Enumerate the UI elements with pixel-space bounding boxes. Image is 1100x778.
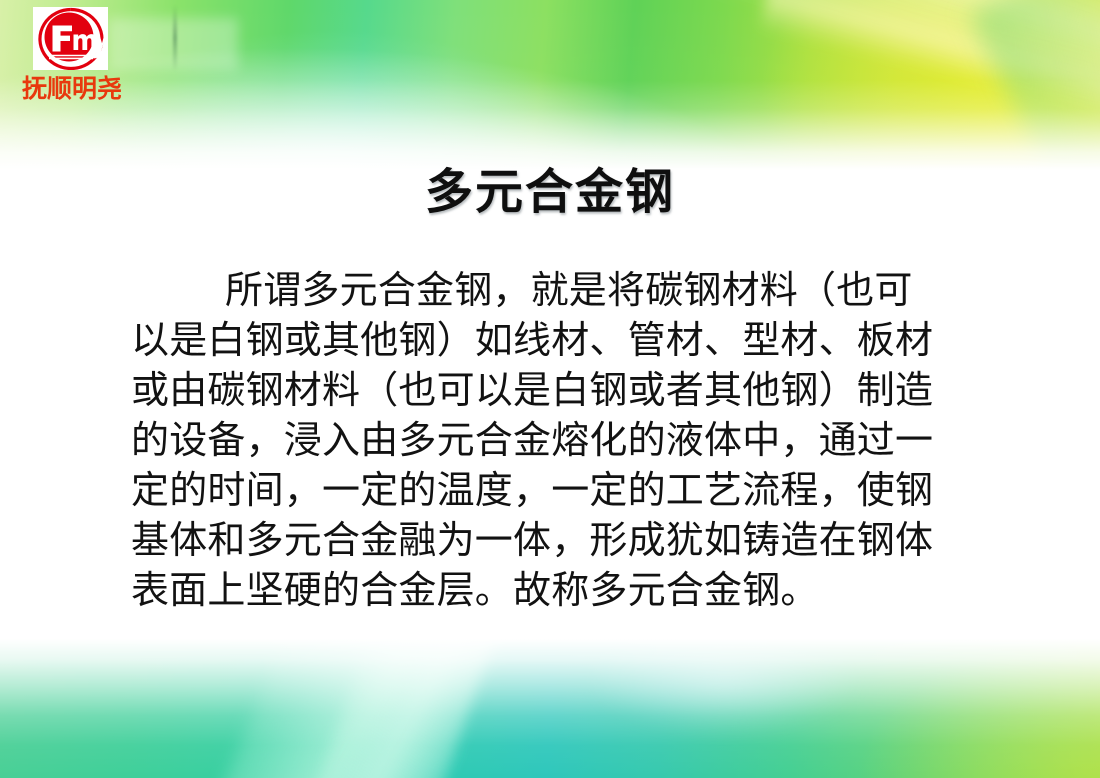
company-logo: 抚顺明尧 bbox=[33, 7, 108, 101]
presentation-slide: 抚顺明尧 多元合金钢 所谓多元合金钢，就是将碳钢材料（也可 以是白钢或其他钢）如… bbox=[0, 0, 1100, 778]
body-line: 表面上坚硬的合金层。故称多元合金钢。 bbox=[131, 565, 1027, 615]
slide-content: 多元合金钢 所谓多元合金钢，就是将碳钢材料（也可 以是白钢或其他钢）如线材、管材… bbox=[0, 0, 1100, 778]
fmy-logo-icon bbox=[36, 7, 106, 70]
body-line: 的设备，浸入由多元合金熔化的液体中，通过一 bbox=[131, 415, 1027, 465]
slide-body-text: 所谓多元合金钢，就是将碳钢材料（也可 以是白钢或其他钢）如线材、管材、型材、板材… bbox=[131, 265, 1027, 615]
body-line: 所谓多元合金钢，就是将碳钢材料（也可 bbox=[131, 265, 1027, 315]
company-name-label: 抚顺明尧 bbox=[9, 76, 135, 101]
body-line: 或由碳钢材料（也可以是白钢或者其他钢）制造 bbox=[131, 365, 1027, 415]
body-line: 定的时间，一定的温度，一定的工艺流程，使钢 bbox=[131, 465, 1027, 515]
body-line: 基体和多元合金融为一体，形成犹如铸造在钢体 bbox=[131, 515, 1027, 565]
logo-plate bbox=[33, 7, 108, 70]
body-line: 以是白钢或其他钢）如线材、管材、型材、板材 bbox=[131, 315, 1027, 365]
slide-title: 多元合金钢 bbox=[0, 165, 1100, 220]
